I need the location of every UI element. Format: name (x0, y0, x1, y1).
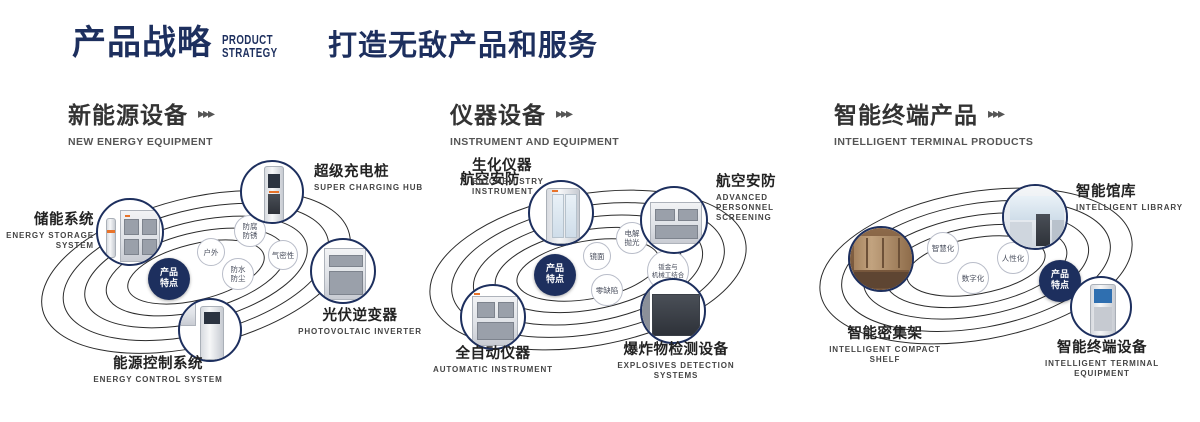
label-en: INTELLIGENT LIBRARY (1076, 203, 1200, 213)
feature-bubble: 镜面 (583, 242, 611, 270)
label-en: BIOCHEMISTRY INSTRUMENT (472, 177, 582, 197)
feature-bubble: 零缺陷 (591, 274, 623, 306)
cluster-intelligent: 智慧化 数字化 人性化 产品 特点 智能馆库 INTELLIGENT LIBRA… (790, 150, 1190, 410)
label-en: INTELLIGENT TERMINAL EQUIPMENT (1016, 359, 1188, 379)
label-energy-control-system: 能源控制系统 ENERGY CONTROL SYSTEM (88, 356, 228, 385)
label-en: EXPLOSIVES DETECTION SYSTEMS (600, 361, 752, 381)
core-bubble-line1: 产品 (546, 264, 564, 274)
chevrons-right-icon: ▸▸▸ (556, 105, 571, 122)
label-en-line2: SYSTEM (0, 241, 94, 251)
core-bubble-line2: 特点 (1051, 281, 1069, 291)
label-cn: 生化仪器 (472, 158, 582, 175)
feature-line1: 电解 (625, 229, 640, 238)
feature-line1: 钣金与 (658, 263, 678, 271)
feature-bubble: 户外 (197, 238, 225, 266)
core-bubble-line2: 特点 (160, 279, 178, 289)
feature-line1: 户外 (204, 248, 219, 257)
node-explosives-detection[interactable] (640, 278, 706, 344)
intelligent-terminal-equipment-photo (1072, 278, 1130, 336)
feature-line2: 抛光 (625, 238, 640, 247)
energy-storage-photo (98, 200, 162, 264)
chevrons-right-icon: ▸▸▸ (198, 105, 213, 122)
section-title-cn: 仪器设备 (450, 96, 546, 130)
page-title-en-line1: PRODUCT (222, 34, 277, 47)
feature-line1: 人性化 (1002, 254, 1025, 263)
label-cn: 智能密集架 (820, 326, 950, 343)
label-cn: 储能系统 (0, 212, 94, 229)
label-en-line1: INTELLIGENT COMPACT (820, 345, 950, 355)
label-en: AUTOMATIC INSTRUMENT (426, 365, 560, 375)
feature-line1: 数字化 (962, 274, 985, 283)
label-automatic-instrument: 全自动仪器 AUTOMATIC INSTRUMENT (426, 346, 560, 375)
page-title-cn: 产品战略 (72, 26, 212, 60)
feature-line1: 镜面 (590, 252, 605, 261)
section-title-en: INSTRUMENT AND EQUIPMENT (450, 136, 619, 148)
label-cn: 全自动仪器 (426, 346, 560, 363)
section-title-cn: 新能源设备 (68, 96, 188, 130)
page-title: 产品战略 PRODUCT STRATEGY (72, 26, 293, 60)
label-en-line2: SHELF (820, 355, 950, 365)
core-bubble-line1: 产品 (160, 268, 178, 278)
node-super-charging-hub[interactable] (240, 160, 304, 224)
section-title-cn: 智能终端产品 (834, 96, 978, 130)
section-title-en: INTELLIGENT TERMINAL PRODUCTS (834, 136, 1033, 148)
energy-control-system-photo (180, 300, 240, 360)
label-en: ENERGY STORAGE SYSTEM (0, 231, 94, 251)
label-en-line2: INSTRUMENT (472, 187, 582, 197)
label-en: ENERGY CONTROL SYSTEM (88, 375, 228, 385)
node-advanced-personnel-screening[interactable] (640, 186, 708, 254)
page-title-en-line2: STRATEGY (222, 47, 277, 60)
section-title-intelligent: 智能终端产品 ▸▸▸ INTELLIGENT TERMINAL PRODUCTS (834, 96, 1033, 148)
feature-bubble: 数字化 (957, 262, 989, 294)
feature-line1: 气密性 (272, 251, 295, 260)
page-title-en: PRODUCT STRATEGY (222, 34, 277, 59)
feature-line1: 防腐 (243, 222, 258, 231)
feature-line1: 零缺陷 (596, 286, 619, 295)
cluster-new-energy: 产品 特点 户外 防腐 防锈 防水 防尘 气密性 储能系统 (18, 150, 418, 410)
super-charging-hub-photo (242, 162, 302, 222)
node-energy-control-system[interactable] (178, 298, 242, 362)
feature-bubble: 智慧化 (927, 232, 959, 264)
label-intelligent-library: 智能馆库 INTELLIGENT LIBRARY (1076, 184, 1200, 213)
chevrons-right-icon: ▸▸▸ (988, 105, 1003, 122)
node-automatic-instrument[interactable] (460, 284, 526, 350)
feature-line1: 智慧化 (932, 244, 955, 253)
feature-line2: 防尘 (231, 274, 246, 283)
section-title-instrument: 仪器设备 ▸▸▸ INSTRUMENT AND EQUIPMENT (450, 96, 619, 148)
feature-line2: 防锈 (243, 231, 258, 240)
intelligent-library-photo (1004, 186, 1066, 248)
label-energy-storage-system: 储能系统 ENERGY STORAGE SYSTEM (0, 212, 94, 251)
node-intelligent-terminal-equipment[interactable] (1070, 276, 1132, 338)
label-cn: 智能终端设备 (1016, 340, 1188, 357)
label-en-line1: BIOCHEMISTRY (472, 177, 582, 187)
label-cn: 能源控制系统 (88, 356, 228, 373)
node-energy-storage-system[interactable] (96, 198, 164, 266)
label-intelligent-compact-shelf: 智能密集架 INTELLIGENT COMPACT SHELF (820, 326, 950, 365)
label-intelligent-terminal-equipment: 智能终端设备 INTELLIGENT TERMINAL EQUIPMENT (1016, 340, 1188, 379)
intelligent-compact-shelf-photo (850, 228, 912, 290)
cluster-instrument: 产品 特点 镜面 电解 抛光 零缺陷 钣金与 机械工结合 航空安防 生化仪器 B… (402, 150, 802, 410)
core-bubble-line1: 产品 (1051, 270, 1069, 280)
node-photovoltaic-inverter[interactable] (310, 238, 376, 304)
label-explosives-detection: 爆炸物检测设备 EXPLOSIVES DETECTION SYSTEMS (600, 342, 752, 381)
core-bubble: 产品 特点 (534, 254, 576, 296)
label-biochemistry-instrument: 生化仪器 BIOCHEMISTRY INSTRUMENT (472, 158, 582, 197)
page-subtitle: 打造无敌产品和服务 (328, 30, 598, 62)
node-intelligent-library[interactable] (1002, 184, 1068, 250)
label-cn: 智能馆库 (1076, 184, 1200, 201)
feature-bubble: 气密性 (268, 240, 298, 270)
photovoltaic-inverter-photo (312, 240, 374, 302)
label-en: INTELLIGENT COMPACT SHELF (820, 345, 950, 365)
label-cn: 爆炸物检测设备 (600, 342, 752, 359)
feature-line1: 防水 (231, 265, 246, 274)
node-intelligent-compact-shelf[interactable] (848, 226, 914, 292)
label-en-line1: ENERGY STORAGE (0, 231, 94, 241)
core-bubble-line2: 特点 (546, 275, 564, 285)
explosives-detection-photo (642, 280, 704, 342)
section-title-new-energy: 新能源设备 ▸▸▸ NEW ENERGY EQUIPMENT (68, 96, 213, 148)
automatic-instrument-photo (462, 286, 524, 348)
section-title-en: NEW ENERGY EQUIPMENT (68, 136, 213, 148)
advanced-personnel-screening-photo (642, 188, 706, 252)
core-bubble: 产品 特点 (148, 258, 190, 300)
feature-bubble: 防水 防尘 (222, 258, 254, 290)
